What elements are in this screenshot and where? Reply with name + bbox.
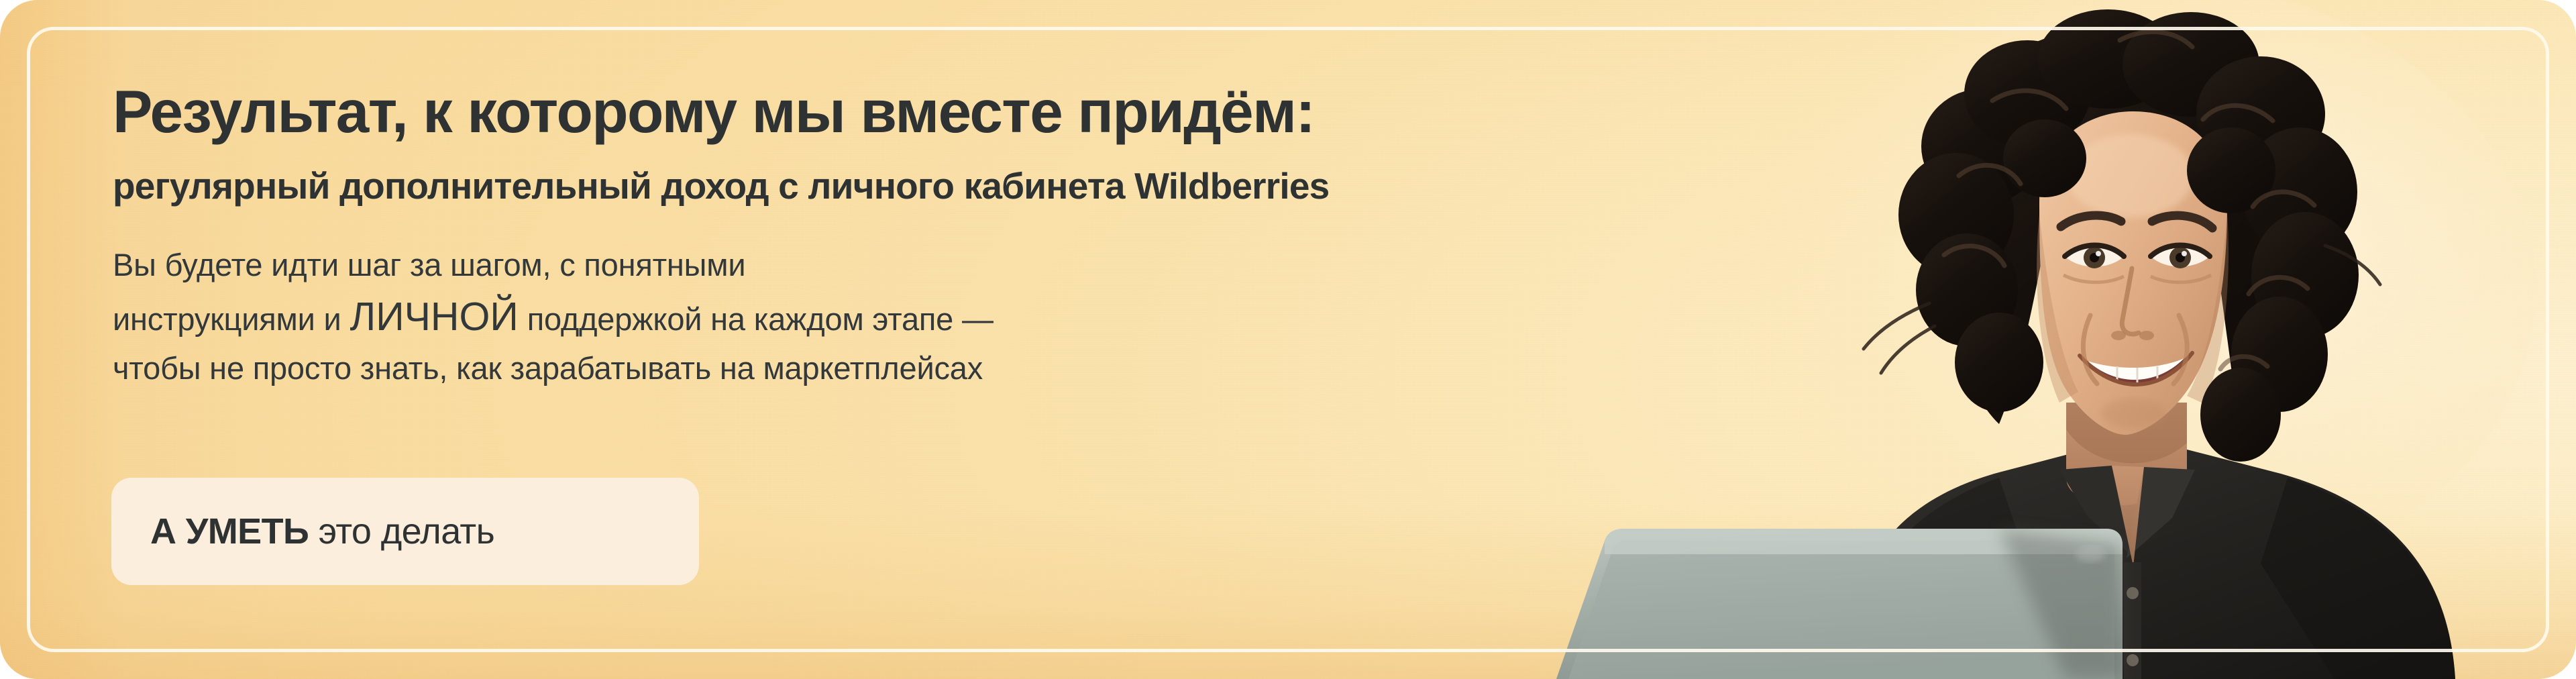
body-line-2-prefix: инструкциями и	[113, 301, 350, 337]
banner-content: Результат, к которому мы вместе придём: …	[113, 82, 1763, 392]
promo-banner: Результат, к которому мы вместе придём: …	[0, 0, 2576, 679]
body-line-2-suffix: поддержкой на каждом этапе —	[519, 301, 994, 337]
banner-title: Результат, к которому мы вместе придём:	[113, 82, 1763, 142]
body-line-3: чтобы не просто знать, как зарабатывать …	[113, 350, 983, 386]
cta-label-strong: А УМЕТЬ	[150, 511, 309, 552]
body-line-2-emphasis: ЛИЧНОЙ	[350, 295, 518, 339]
cta-button-label: А УМЕТЬ это делать	[150, 511, 494, 552]
banner-subtitle: регулярный дополнительный доход с личног…	[113, 142, 1763, 206]
cta-label-rest: это делать	[309, 511, 494, 552]
banner-body-copy: Вы будете идти шаг за шагом, с понятными…	[113, 206, 1763, 392]
body-line-1: Вы будете идти шаг за шагом, с понятными	[113, 247, 745, 282]
cta-button[interactable]: А УМЕТЬ это делать	[111, 478, 699, 585]
